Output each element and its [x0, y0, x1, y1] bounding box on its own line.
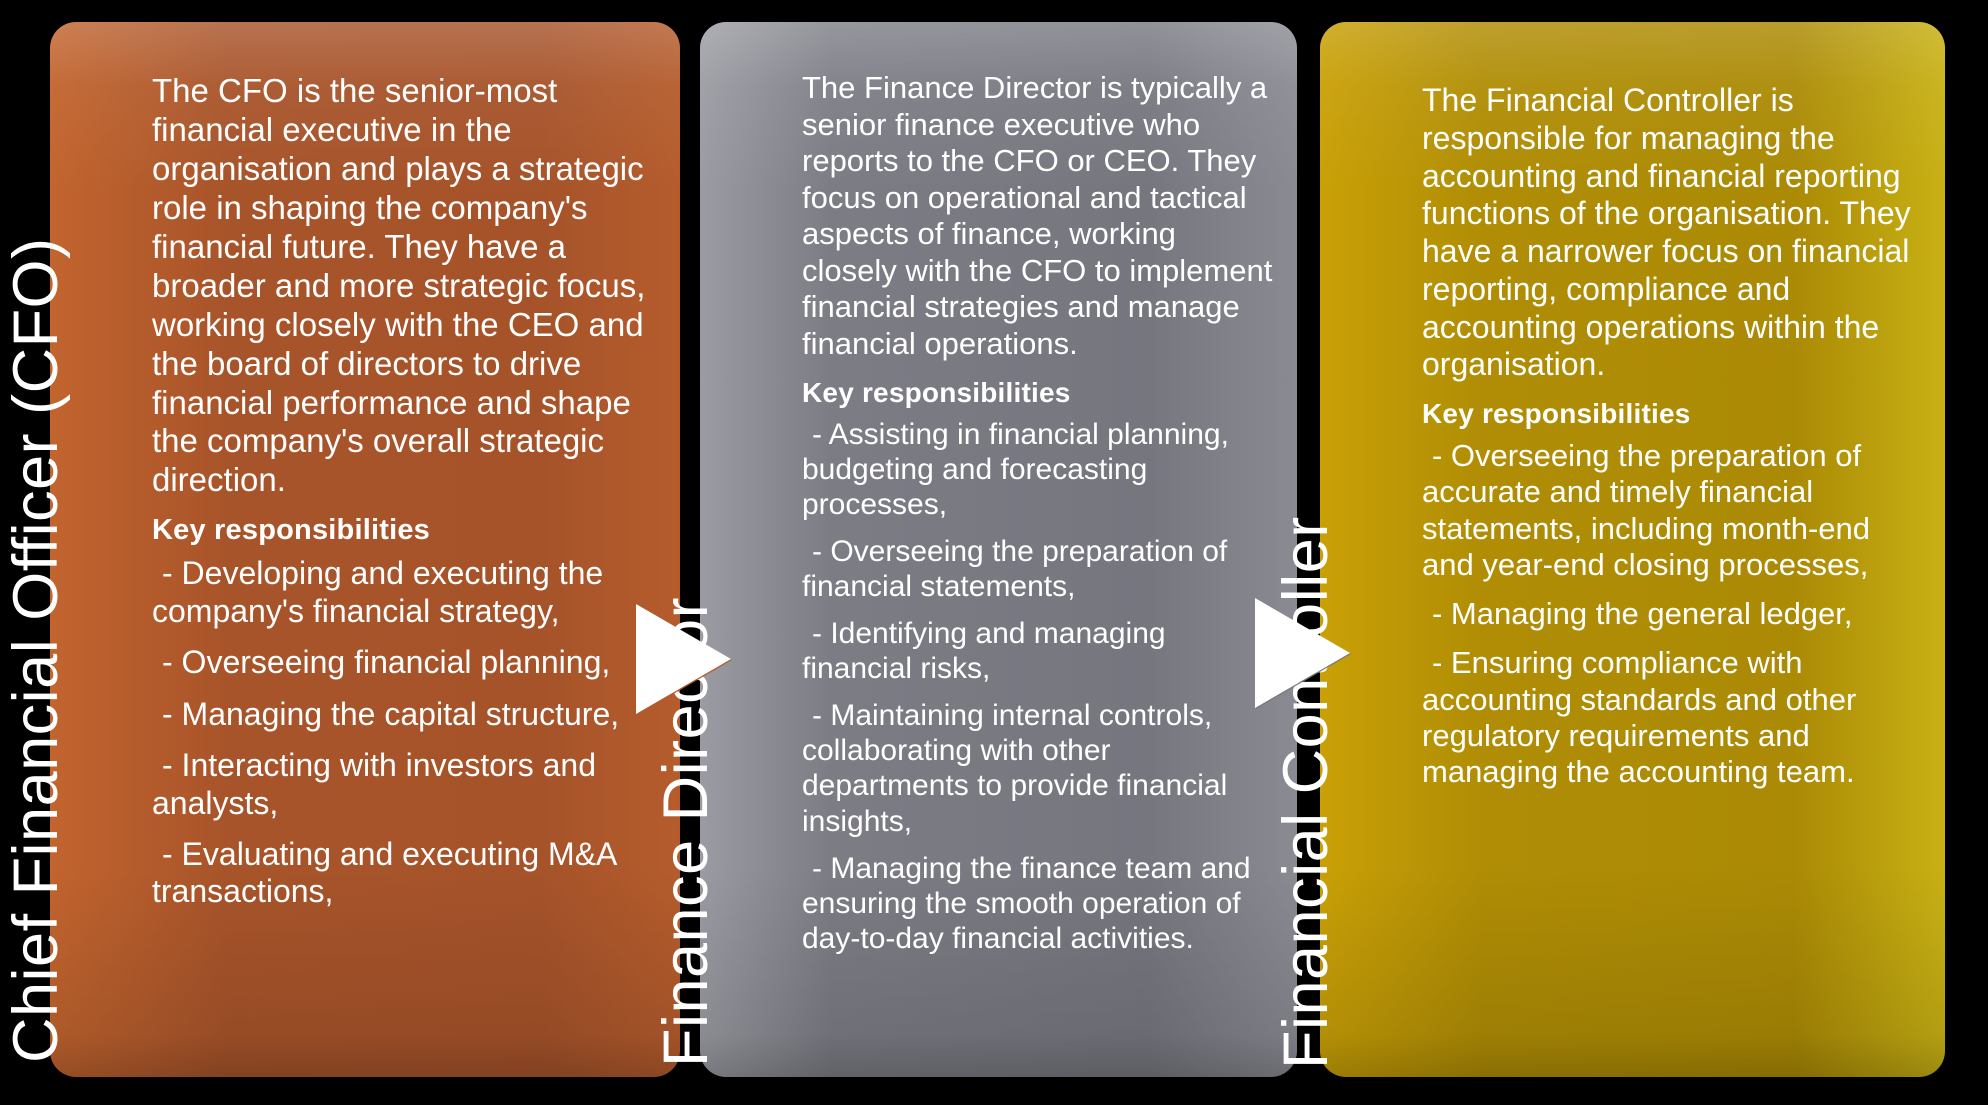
panel-cfo-intro: The CFO is the senior-most financial exe…: [152, 72, 658, 500]
panel-cfo-responsibilities-heading: Key responsibilities: [152, 514, 658, 547]
panel-cfo-title-column: Chief Financial Officer (CFO): [50, 22, 146, 1077]
panel-cfo-responsibility-item: - Overseeing financial planning,: [152, 644, 658, 681]
panel-cfo-title: Chief Financial Officer (CFO): [5, 237, 68, 1063]
panel-financial-controller-responsibilities-heading: Key responsibilities: [1422, 398, 1921, 430]
slide-canvas: Chief Financial Officer (CFO) The CFO is…: [0, 0, 1988, 1105]
panel-cfo-responsibility-item: - Managing the capital structure,: [152, 696, 658, 733]
panel-financial-controller[interactable]: Financial Controller The Financial Contr…: [1320, 22, 1945, 1077]
panel-finance-director-title-column: Finance Director: [700, 22, 796, 1077]
panel-cfo-inner: Chief Financial Officer (CFO) The CFO is…: [50, 22, 680, 1077]
panel-financial-controller-responsibility-item: - Ensuring compliance with accounting st…: [1422, 645, 1921, 790]
panel-finance-director-responsibility-item: - Maintaining internal controls, collabo…: [802, 698, 1279, 838]
panel-finance-director-responsibilities-heading: Key responsibilities: [802, 377, 1279, 409]
arrow-right-icon-2: [1255, 598, 1350, 708]
panel-finance-director-intro: The Finance Director is typically a seni…: [802, 70, 1279, 363]
panel-cfo-responsibility-item: - Developing and executing the company's…: [152, 555, 658, 630]
panel-finance-director-responsibility-item: - Assisting in financial planning, budge…: [802, 417, 1279, 522]
panel-finance-director-responsibility-item: - Managing the finance team and ensuring…: [802, 851, 1279, 956]
panel-finance-director-inner: Finance Director The Finance Director is…: [700, 22, 1297, 1077]
panel-finance-director[interactable]: Finance Director The Finance Director is…: [700, 22, 1297, 1077]
panel-cfo-responsibility-item: - Interacting with investors and analyst…: [152, 747, 658, 822]
panel-finance-director-responsibility-item: - Identifying and managing financial ris…: [802, 616, 1279, 686]
panel-financial-controller-responsibility-item: - Managing the general ledger,: [1422, 596, 1921, 632]
panel-financial-controller-title-column: Financial Controller: [1320, 22, 1416, 1077]
panel-cfo[interactable]: Chief Financial Officer (CFO) The CFO is…: [50, 22, 680, 1077]
panel-cfo-responsibility-item: - Evaluating and executing M&A transacti…: [152, 836, 658, 911]
panel-financial-controller-inner: Financial Controller The Financial Contr…: [1320, 22, 1945, 1077]
arrow-right-icon-1: [636, 604, 731, 714]
panel-financial-controller-responsibility-item: - Overseeing the preparation of accurate…: [1422, 438, 1921, 583]
panel-cfo-body: The CFO is the senior-most financial exe…: [146, 22, 680, 1077]
panel-financial-controller-intro: The Financial Controller is responsible …: [1422, 82, 1921, 384]
panel-financial-controller-body: The Financial Controller is responsible …: [1416, 22, 1945, 1077]
panel-finance-director-body: The Finance Director is typically a seni…: [796, 22, 1297, 1077]
panel-finance-director-responsibility-item: - Overseeing the preparation of financia…: [802, 534, 1279, 604]
